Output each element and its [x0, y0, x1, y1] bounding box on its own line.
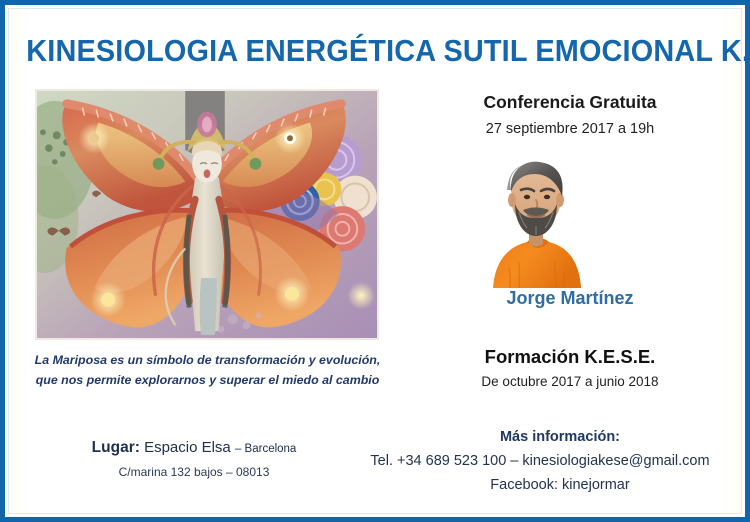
artwork-caption: La Mariposa es un símbolo de transformac…	[20, 350, 395, 390]
poster-kese: KINESIOLOGIA ENERGÉTICA SUTIL EMOCIONAL …	[0, 0, 750, 522]
artwork-caption-line-1: La Mariposa es un símbolo de transformac…	[20, 350, 395, 370]
speaker-portrait-photo-icon	[475, 148, 595, 288]
speaker-name: Jorge Martínez	[400, 288, 740, 309]
venue-line: Lugar: Espacio Elsa – Barcelona	[14, 438, 374, 459]
venue-name: Espacio Elsa	[144, 439, 231, 456]
training-title: Formación K.E.S.E.	[400, 346, 740, 368]
venue-label: Lugar:	[92, 439, 140, 456]
training-date: De octubre 2017 a junio 2018	[400, 374, 740, 389]
contact-facebook: Facebook: kinejormar	[380, 477, 740, 493]
page-title: KINESIOLOGIA ENERGÉTICA SUTIL EMOCIONAL …	[26, 33, 724, 69]
venue-address: C/marina 132 bajos – 08013	[14, 462, 374, 482]
contact-heading: Más información:	[380, 429, 740, 445]
butterfly-fairy-painting-icon	[35, 89, 379, 340]
artwork-caption-line-2: que nos permite explorarnos y superar el…	[20, 370, 395, 390]
conference-date: 27 septiembre 2017 a 19h	[400, 121, 740, 137]
venue-city: – Barcelona	[235, 443, 296, 455]
venue-block: Lugar: Espacio Elsa – Barcelona C/marina…	[14, 438, 374, 482]
contact-phone-email: Tel. +34 689 523 100 – kinesiologiakese@…	[338, 453, 742, 469]
conference-title: Conferencia Gratuita	[400, 92, 740, 113]
